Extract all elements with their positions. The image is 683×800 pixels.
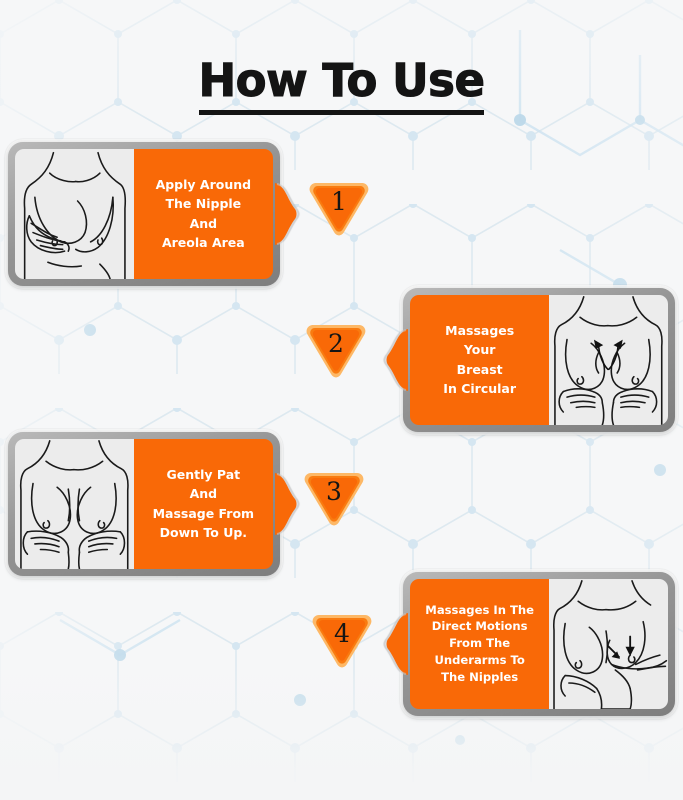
how-to-use-infographic: How To Use [0, 0, 683, 800]
step-card-4: Massages In The Direct Motions From The … [403, 572, 675, 716]
step-badge-4: 4 [311, 612, 373, 670]
step-1-text-panel: Apply Around The Nipple And Areola Area [134, 149, 273, 279]
step-4-text-panel: Massages In The Direct Motions From The … [410, 579, 549, 709]
torso-underarm-to-nipple-arrows-icon [549, 579, 668, 709]
torso-pat-massage-upward-icon [15, 439, 134, 569]
step-badge-2: 2 [305, 322, 367, 380]
step-1-line-3: And [190, 214, 218, 234]
step-4-illustration-panel [549, 579, 668, 709]
step-badge-3-number: 3 [303, 479, 365, 504]
step-4-line-1: Massages In The [425, 602, 534, 619]
step-4-card-notch-icon [381, 613, 408, 675]
step-1-line-4: Areola Area [162, 234, 245, 254]
step-1-line-2: The Nipple [166, 195, 242, 215]
step-2-line-1: Massages [445, 321, 514, 341]
step-4-line-5: The Nipples [441, 669, 518, 686]
step-2-line-4: In Circular [443, 380, 516, 400]
step-3-line-3: Massage From [153, 504, 254, 524]
step-2-line-2: Your [464, 341, 496, 361]
step-2-card-notch-icon [381, 329, 408, 391]
step-2-text-panel: Massages Your Breast In Circular [410, 295, 549, 425]
step-3-card-notch-icon [275, 473, 302, 535]
page-title: How To Use [199, 58, 485, 115]
step-card-2: Massages Your Breast In Circular [403, 288, 675, 432]
step-2-illustration-panel [549, 295, 668, 425]
step-badge-4-number: 4 [311, 621, 373, 646]
step-card-1: Apply Around The Nipple And Areola Area [8, 142, 280, 286]
step-4-line-2: Direct Motions [432, 619, 528, 636]
step-2-line-3: Breast [457, 360, 503, 380]
step-card-3: Gently Pat And Massage From Down To Up. [8, 432, 280, 576]
torso-circular-massage-arrows-icon [549, 295, 668, 425]
step-3-line-1: Gently Pat [167, 465, 241, 485]
step-badge-1: 1 [308, 180, 370, 238]
step-badge-2-number: 2 [305, 331, 367, 356]
step-4-line-4: Underarms To [434, 652, 524, 669]
step-1-line-1: Apply Around [156, 175, 252, 195]
page-title-container: How To Use [0, 58, 683, 115]
step-3-line-2: And [190, 485, 218, 505]
step-3-text-panel: Gently Pat And Massage From Down To Up. [134, 439, 273, 569]
step-1-card-notch-icon [275, 183, 302, 245]
step-badge-1-number: 1 [308, 189, 370, 214]
step-4-line-3: From The [449, 636, 510, 653]
step-3-illustration-panel [15, 439, 134, 569]
torso-hand-cupping-breast-icon [15, 149, 134, 279]
step-3-line-4: Down To Up. [160, 524, 247, 544]
step-badge-3: 3 [303, 470, 365, 528]
step-1-illustration-panel [15, 149, 134, 279]
